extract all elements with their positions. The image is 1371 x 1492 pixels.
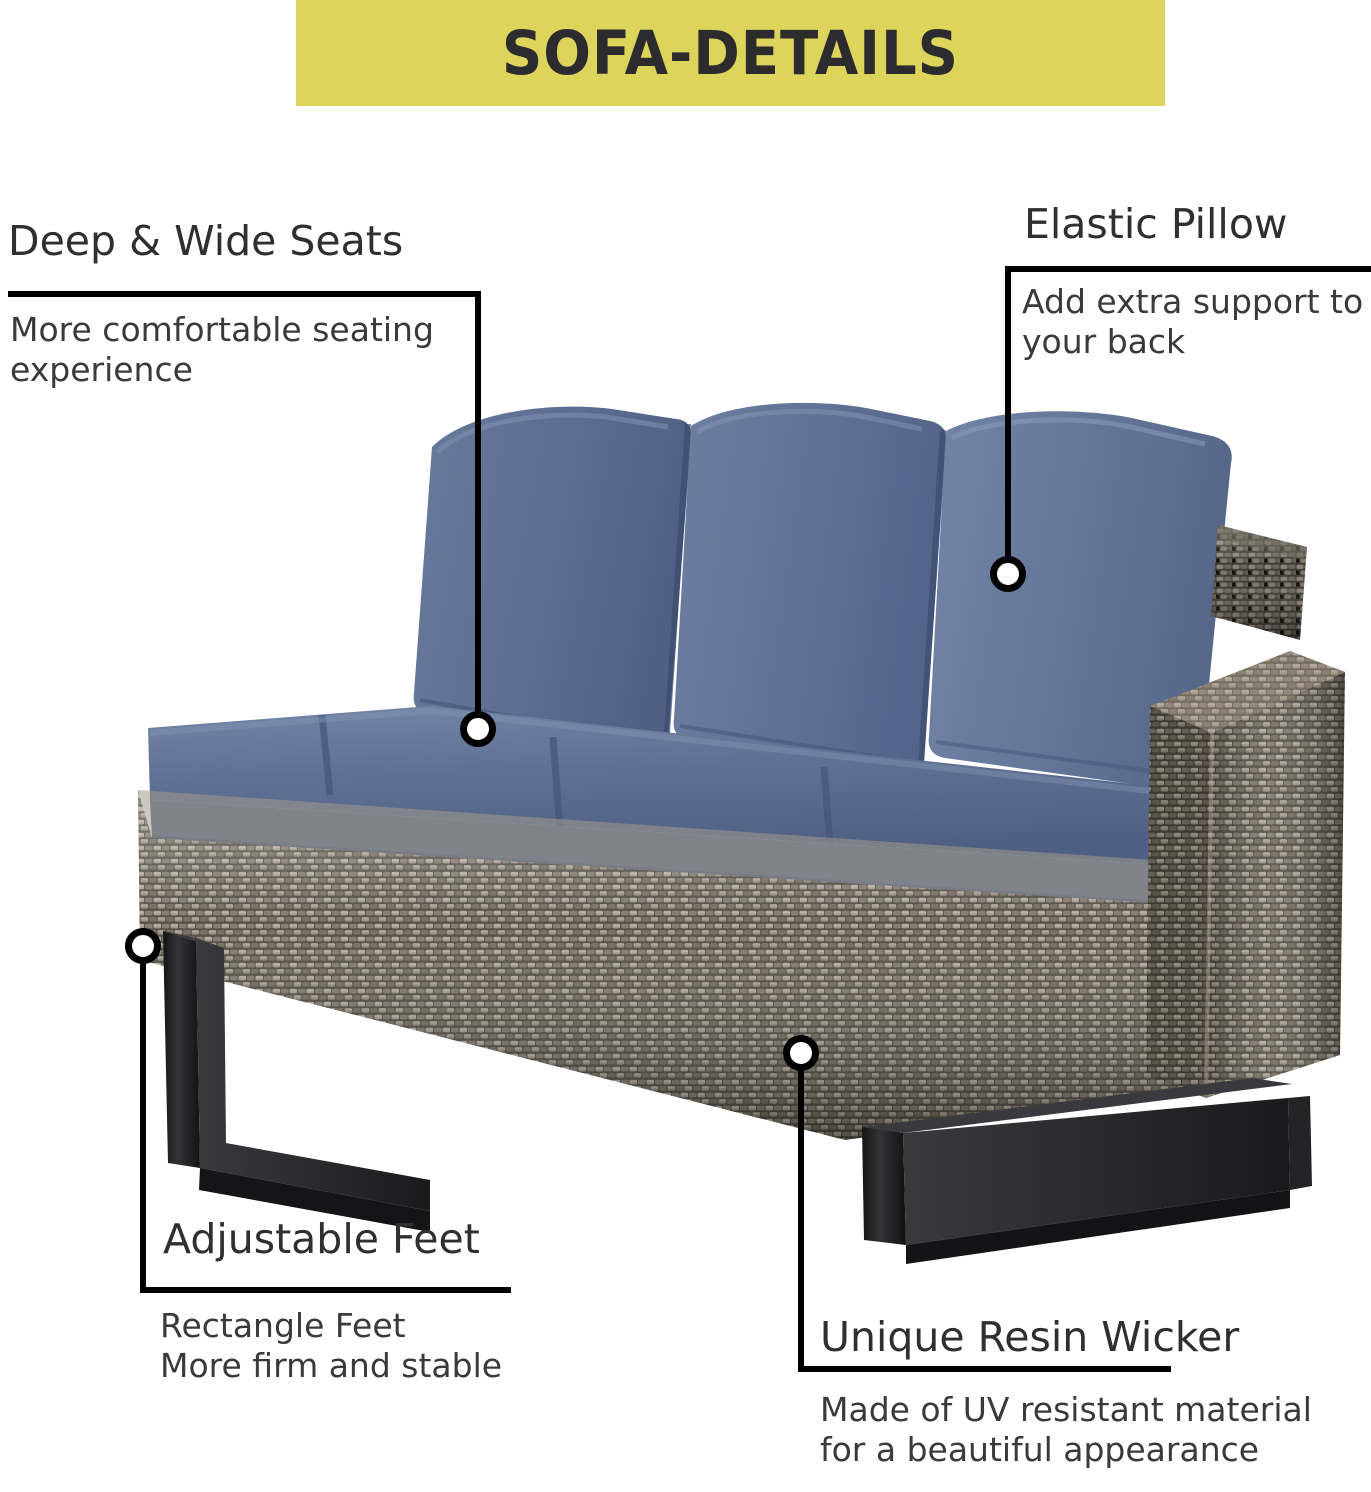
leader-line-adjustable-feet <box>140 962 146 1287</box>
callout-body-line-2: for a beautiful appearance <box>820 1430 1365 1470</box>
callout-body-line-1: Made of UV resistant material <box>820 1390 1365 1430</box>
callout-body-line-2: More firm and stable <box>160 1346 590 1386</box>
callout-heading-unique-resin-wicker: Unique Resin Wicker <box>820 1313 1239 1361</box>
adjustable-foot-right <box>862 1127 906 1245</box>
right-arm <box>1146 651 1345 1098</box>
callout-marker-unique-resin-wicker <box>783 1035 819 1071</box>
leader-line-unique-resin-wicker <box>798 1069 804 1366</box>
callout-body-deep-wide-seats: More comfortable seating experience <box>10 310 480 389</box>
callout-rule-adjustable-feet <box>140 1287 511 1293</box>
title-banner: SOFA-DETAILS <box>296 0 1165 106</box>
callout-body-adjustable-feet: Rectangle Feet More firm and stable <box>160 1306 590 1385</box>
callout-rule-elastic-pillow <box>1005 266 1371 272</box>
callout-marker-adjustable-feet <box>125 928 161 964</box>
callout-heading-elastic-pillow: Elastic Pillow <box>1024 200 1287 248</box>
callout-body-elastic-pillow: Add extra support to your back <box>1022 282 1367 361</box>
callout-marker-elastic-pillow <box>990 556 1026 592</box>
callout-rule-deep-wide-seats <box>8 291 481 297</box>
back-rail <box>1211 525 1307 640</box>
callout-body-unique-resin-wicker: Made of UV resistant material for a beau… <box>820 1390 1365 1469</box>
adjustable-foot-left <box>163 931 200 1168</box>
back-cushion-middle <box>674 403 947 776</box>
callout-marker-deep-wide-seats <box>460 711 496 747</box>
callout-heading-adjustable-feet: Adjustable Feet <box>163 1215 480 1263</box>
callout-heading-deep-wide-seats: Deep & Wide Seats <box>8 217 403 265</box>
leader-line-deep-wide-seats <box>475 291 481 731</box>
callout-body-line-1: Rectangle Feet <box>160 1306 590 1346</box>
leader-line-elastic-pillow <box>1005 266 1011 576</box>
page-title: SOFA-DETAILS <box>502 18 959 89</box>
callout-rule-unique-resin-wicker <box>798 1366 1171 1372</box>
